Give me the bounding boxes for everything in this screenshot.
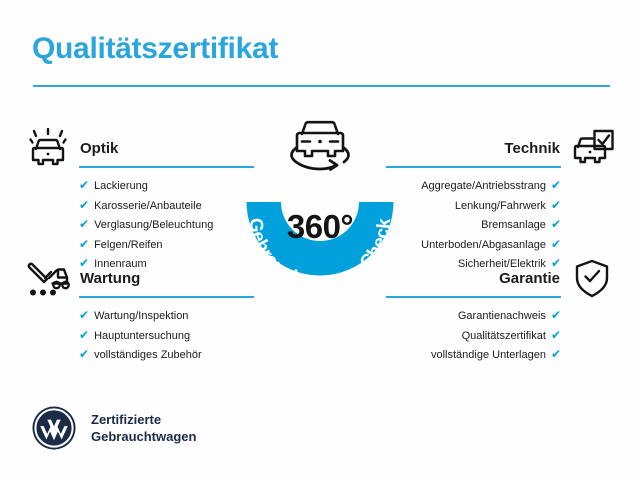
section-title-technik: Technik (504, 140, 560, 157)
list-item-label: Hauptuntersuchung (94, 330, 190, 342)
list-item-label: vollständiges Zubehör (94, 349, 202, 361)
section-technik: Technik Aggregate/Antriebsstrang✔ Lenkun… (386, 126, 618, 274)
check-icon: ✔ (551, 308, 561, 322)
vw-footer-line1: Zertifizierte (91, 411, 196, 428)
list-item-label: Wartung/Inspektion (94, 310, 188, 322)
check-icon: ✔ (551, 178, 561, 192)
section-underline-garantie (386, 296, 561, 298)
section-header-garantie: Garantie (386, 256, 618, 306)
check-icon: ✔ (551, 237, 561, 251)
vw-roundel-logo (31, 405, 77, 451)
list-item-label: Lenkung/Fahrwerk (455, 200, 546, 212)
list-item-label: Bremsanlage (481, 219, 546, 231)
check-icon: ✔ (551, 198, 561, 212)
checklist-wartung: ✔Wartung/Inspektion ✔Hauptuntersuchung ✔… (79, 306, 254, 365)
header-divider (33, 85, 610, 87)
list-item: ✔vollständiges Zubehör (79, 345, 254, 365)
list-item: Garantienachweis✔ (386, 306, 561, 326)
check-icon: ✔ (79, 347, 89, 361)
badge-360-gebrauchtwagen-check: Gebrauchtwagen-Check 360° (228, 112, 412, 312)
check-icon: ✔ (551, 217, 561, 231)
car-checkbox-icon (566, 126, 618, 172)
section-header-wartung: Wartung (22, 256, 254, 306)
list-item: Qualitätszertifikat✔ (386, 326, 561, 346)
vw-footer-line2: Gebrauchtwagen (91, 428, 196, 445)
section-wartung: Wartung ✔Wartung/Inspektion ✔Hauptunters… (22, 256, 254, 365)
vw-footer-text: Zertifizierte Gebrauchtwagen (91, 411, 196, 445)
section-underline-technik (386, 166, 561, 168)
page-title: Qualitätszertifikat (32, 32, 278, 66)
list-item-label: Verglasung/Beleuchtung (94, 219, 213, 231)
section-title-garantie: Garantie (499, 270, 560, 287)
list-item-label: Qualitätszertifikat (462, 330, 546, 342)
check-icon: ✔ (551, 328, 561, 342)
certificate-page: Qualitätszertifikat Optik ✔Lackierun (0, 0, 640, 480)
section-optik: Optik ✔Lackierung ✔Karosserie/Anbauteile… (22, 126, 254, 274)
check-icon: ✔ (79, 237, 89, 251)
check-icon: ✔ (79, 328, 89, 342)
list-item-label: vollständige Unterlagen (431, 349, 546, 361)
vw-certified-footer: Zertifizierte Gebrauchtwagen (31, 405, 196, 451)
car-wrench-icon (22, 256, 74, 302)
checklist-garantie: Garantienachweis✔ Qualitätszertifikat✔ v… (386, 306, 561, 365)
check-icon: ✔ (79, 178, 89, 192)
shield-check-icon (566, 256, 618, 302)
car-rotate-icon (282, 112, 358, 178)
check-icon: ✔ (79, 217, 89, 231)
section-header-optik: Optik (22, 126, 254, 176)
list-item-label: Unterboden/Abgasanlage (421, 239, 546, 251)
list-item: vollständige Unterlagen✔ (386, 345, 561, 365)
list-item-label: Garantienachweis (458, 310, 546, 322)
car-shine-icon (22, 126, 74, 172)
badge-degrees-label: 360° (228, 208, 412, 246)
list-item: Lenkung/Fahrwerk✔ (386, 196, 561, 216)
list-item: Bremsanlage✔ (386, 215, 561, 235)
section-title-optik: Optik (80, 140, 118, 157)
list-item-label: Karosserie/Anbauteile (94, 200, 202, 212)
list-item-label: Aggregate/Antriebsstrang (421, 180, 546, 192)
list-item: Unterboden/Abgasanlage✔ (386, 235, 561, 255)
section-garantie: Garantie Garantienachweis✔ Qualitätszert… (386, 256, 618, 365)
check-icon: ✔ (79, 308, 89, 322)
list-item: ✔Hauptuntersuchung (79, 326, 254, 346)
section-header-technik: Technik (386, 126, 618, 176)
list-item: Aggregate/Antriebsstrang✔ (386, 176, 561, 196)
section-title-wartung: Wartung (80, 270, 140, 287)
check-icon: ✔ (551, 347, 561, 361)
list-item-label: Felgen/Reifen (94, 239, 163, 251)
list-item-label: Lackierung (94, 180, 148, 192)
check-icon: ✔ (79, 198, 89, 212)
